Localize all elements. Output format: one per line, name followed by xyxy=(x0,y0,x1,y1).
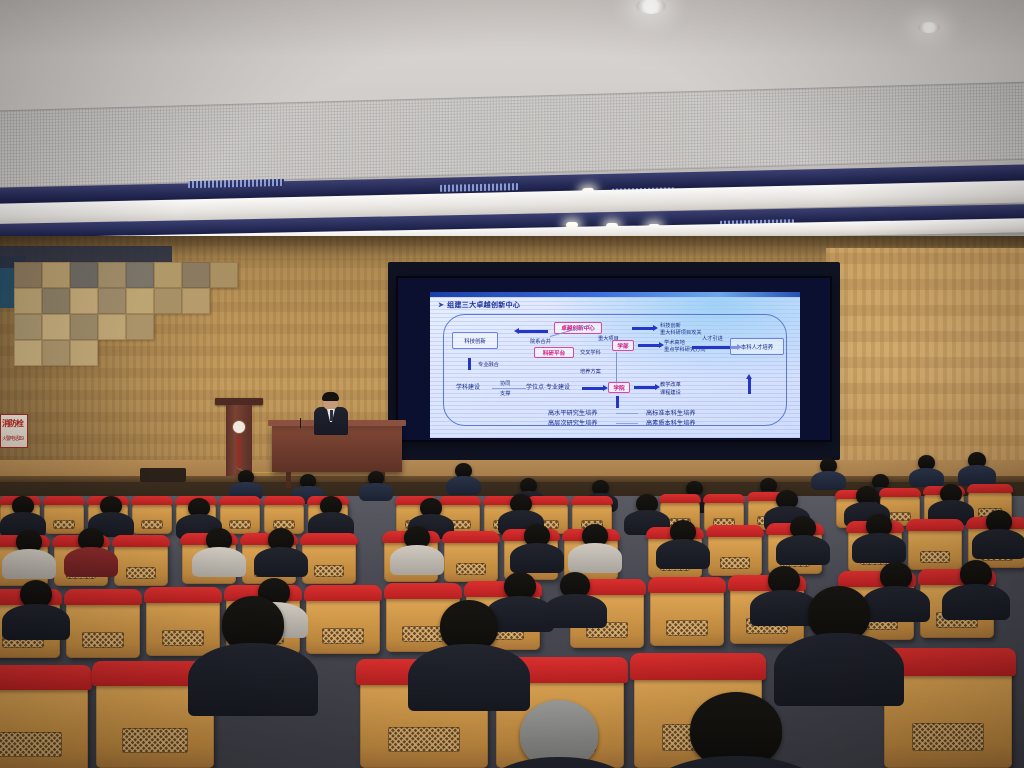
fire-equipment-sign: 消防栓 火警电话119 xyxy=(0,414,28,448)
connector-discipline-degree xyxy=(492,388,526,389)
presenter-tie xyxy=(330,410,333,421)
annotation-10: 课程建设 xyxy=(660,390,681,397)
audience-person xyxy=(78,528,104,551)
slide-title: ➤组建三大卓越创新中心 xyxy=(438,300,520,310)
annotation-11: 协同 xyxy=(500,381,510,388)
auditorium-seat xyxy=(66,596,140,658)
audience-person xyxy=(866,514,892,537)
audience-person xyxy=(582,524,608,547)
node-undergrad-training: 本科人才培养 xyxy=(730,338,784,355)
footer-connector-upper xyxy=(616,413,638,414)
audience-person xyxy=(20,580,52,608)
annotation-9: 教学改革 xyxy=(660,382,681,389)
audience-person xyxy=(790,516,816,539)
audience-person xyxy=(222,596,284,652)
audience-person xyxy=(768,566,800,594)
audience-person xyxy=(670,520,696,543)
audience-person xyxy=(880,562,912,590)
connector-center-vertical xyxy=(616,352,617,386)
auditorium-seat xyxy=(114,540,168,586)
auditorium-seat xyxy=(146,594,220,656)
seated-presenter xyxy=(313,393,349,433)
annotation-12: 支撑 xyxy=(500,391,510,398)
annotation-8: 培养方案 xyxy=(580,369,601,376)
audience-person xyxy=(520,478,537,493)
audience-person xyxy=(986,510,1012,533)
presenter-hair xyxy=(322,392,339,401)
auditorium-seat xyxy=(650,584,724,646)
audience-person xyxy=(776,490,798,509)
fire-sign-line2: 火警电话119 xyxy=(2,435,23,442)
footer-right-line2: 高素质本科生培养 xyxy=(646,420,696,428)
projected-slide: ➤组建三大卓越创新中心 科技创新 卓越创新中心 科技创新 重大科研项目攻关 重大… xyxy=(430,292,800,438)
audience-person xyxy=(238,470,254,484)
slide-diagram-container xyxy=(443,314,787,426)
audience-person xyxy=(968,452,986,468)
slide-header-band xyxy=(430,292,800,297)
arrow-to-annotation-1 xyxy=(632,327,654,330)
audience-person xyxy=(268,528,294,551)
auditorium-seat xyxy=(0,676,88,768)
podium-emblem xyxy=(233,421,245,433)
audience-person xyxy=(510,494,532,513)
annotation-1-line2: 重大科研项目攻关 xyxy=(660,330,702,336)
footer-right-line1: 高标准本科生培养 xyxy=(646,410,696,418)
arrow-college-right xyxy=(634,386,656,389)
audience-person xyxy=(504,572,536,600)
audience-person xyxy=(16,530,42,553)
audience-person xyxy=(820,458,837,473)
node-discipline-construction: 学科建设 xyxy=(456,385,480,393)
audience-person xyxy=(960,560,992,588)
audience-person xyxy=(455,463,472,478)
audience-person xyxy=(368,471,384,485)
annotation-1-line1: 科技创新 xyxy=(660,323,681,329)
audience-person xyxy=(760,478,777,493)
auditorium-photo: 消防栓 火警电话119 ➤组建三大卓越创新中心 科技创新 卓越创新中心 科技创新… xyxy=(0,0,1024,768)
audience-person xyxy=(12,496,34,515)
audience-person xyxy=(420,498,442,517)
auditorium-seat xyxy=(306,592,380,654)
auditorium-seat xyxy=(302,538,356,584)
node-degree-major: 学位点·专业建设 xyxy=(526,385,570,393)
annotation-2-line1: 学术高地 xyxy=(664,340,685,346)
audience-person xyxy=(636,494,658,513)
audience-person xyxy=(856,486,878,505)
auditorium-seat xyxy=(444,536,498,582)
arrow-to-college xyxy=(582,387,604,390)
slide-title-caret-icon: ➤ xyxy=(438,302,444,309)
audience-person xyxy=(440,600,498,652)
auditorium-seat xyxy=(708,530,762,576)
audience-person xyxy=(404,526,430,549)
tick-center-down xyxy=(616,396,619,408)
audience-person xyxy=(300,474,316,488)
arrow-to-tech-innovation xyxy=(518,330,548,333)
tick-left-vertical xyxy=(468,358,471,370)
audience-person xyxy=(592,480,609,495)
audience-person xyxy=(100,496,122,515)
audience-person xyxy=(918,455,935,470)
slide-title-text: 组建三大卓越创新中心 xyxy=(447,302,520,309)
annotation-4: 交叉学科 xyxy=(580,350,601,357)
audience-person xyxy=(206,528,232,551)
annotation-7: 专业融合 xyxy=(478,362,499,369)
auditorium-seat xyxy=(132,500,172,534)
auditorium-seat xyxy=(908,524,962,570)
ceiling-downlight-2 xyxy=(918,22,940,33)
annotation-5: 院系合并 xyxy=(530,339,551,346)
audience-person xyxy=(808,586,870,642)
node-college: 学院 xyxy=(608,382,630,393)
audience-person xyxy=(320,496,342,515)
audience-person xyxy=(188,498,210,517)
acoustic-checker-array xyxy=(14,262,294,382)
fire-sign-line1: 消防栓 xyxy=(2,418,23,429)
arrow-faculty-right xyxy=(638,344,660,347)
footer-connector-lower xyxy=(616,423,638,424)
node-tech-innovation: 科技创新 xyxy=(452,332,498,349)
audience-person xyxy=(560,572,590,598)
stage-equipment-box xyxy=(140,468,186,482)
audience-person xyxy=(520,700,598,768)
annotation-6: 人才引进 xyxy=(702,336,723,343)
node-research-platform: 科研平台 xyxy=(534,347,574,358)
audience-person xyxy=(940,484,962,503)
audience-person xyxy=(690,692,782,768)
annotation-1: 科技创新 重大科研项目攻关 xyxy=(660,323,702,336)
podium-top xyxy=(215,398,263,405)
node-faculty: 学部 xyxy=(612,340,634,351)
footer-left-line1: 高水平研究生培养 xyxy=(548,410,598,418)
arrow-up-right xyxy=(748,378,751,394)
footer-left-line2: 高层次研究生培养 xyxy=(548,420,598,428)
table-leg-left xyxy=(286,472,291,488)
table-microphone xyxy=(300,418,301,428)
audience-person xyxy=(524,524,550,547)
